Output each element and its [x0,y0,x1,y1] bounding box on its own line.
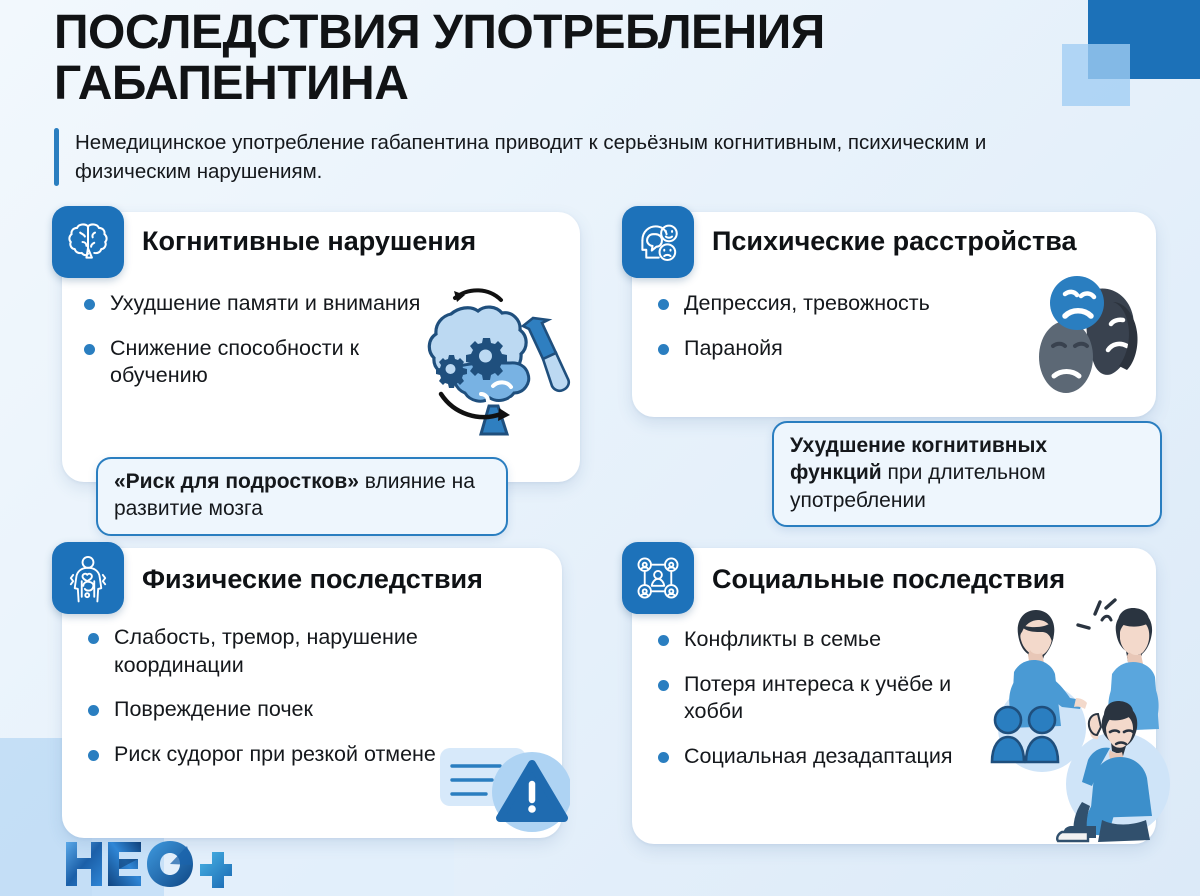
header: ПОСЛЕДСТВИЯ УПОТРЕБЛЕНИЯ ГАБАПЕНТИНА Нем… [54,8,1054,186]
card-title-social: Социальные последствия [712,564,1065,595]
decor-square-top-right-dark [1088,0,1200,79]
page-title: ПОСЛЕДСТВИЯ УПОТРЕБЛЕНИЯ ГАБАПЕНТИНА [54,8,1054,110]
list-item: Слабость, тремор, нарушение координации [84,624,504,679]
callout-teen-risk: «Риск для подростков» влияние на развити… [96,457,508,536]
list-item: Социальная дезадаптация [654,743,984,771]
bullet-list-physical: Слабость, тремор, нарушение координации … [84,624,504,785]
social-network-icon [622,542,694,614]
list-item: Повреждение почек [84,696,504,724]
list-item: Конфликты в семье [654,626,984,654]
brain-icon [52,206,124,278]
card-title-cognitive: Когнитивные нарушения [142,226,476,257]
card-title-mental: Психические расстройства [712,226,1076,257]
bullet-list-mental: Депрессия, тревожность Паранойя [654,290,1054,379]
page-subtitle: Немедицинское употребление габапентина п… [75,128,1015,186]
subtitle-accent-bar [54,128,59,186]
head-emotions-icon [622,206,694,278]
card-social: Социальные последствия Конфликты в семье… [632,548,1156,844]
callout-long-term: Ухудшение когнитивных функций при длител… [772,421,1162,527]
list-item: Паранойя [654,335,1054,363]
card-mental: Психические расстройства Депрессия, трев… [632,212,1156,417]
list-item: Потеря интереса к учёбе и хобби [654,671,984,726]
card-cognitive: Когнитивные нарушения Ухудшение памяти и… [62,212,580,482]
card-physical: Физические последствия Слабость, тремор,… [62,548,562,838]
subtitle-block: Немедицинское употребление габапентина п… [54,128,1054,186]
list-item: Депрессия, тревожность [654,290,1054,318]
bullet-list-social: Конфликты в семье Потеря интереса к учёб… [654,626,984,787]
card-title-physical: Физические последствия [142,564,483,595]
callout-bold-text: «Риск для подростков» [114,470,359,493]
bullet-list-cognitive: Ухудшение памяти и внимания Снижение спо… [80,290,450,407]
decor-square-top-right-light [1062,44,1130,106]
brand-logo [62,838,232,890]
list-item: Риск судорог при резкой отмене [84,741,504,769]
list-item: Ухудшение памяти и внимания [80,290,450,318]
body-organs-icon [52,542,124,614]
list-item: Снижение способности к обучению [80,335,450,390]
